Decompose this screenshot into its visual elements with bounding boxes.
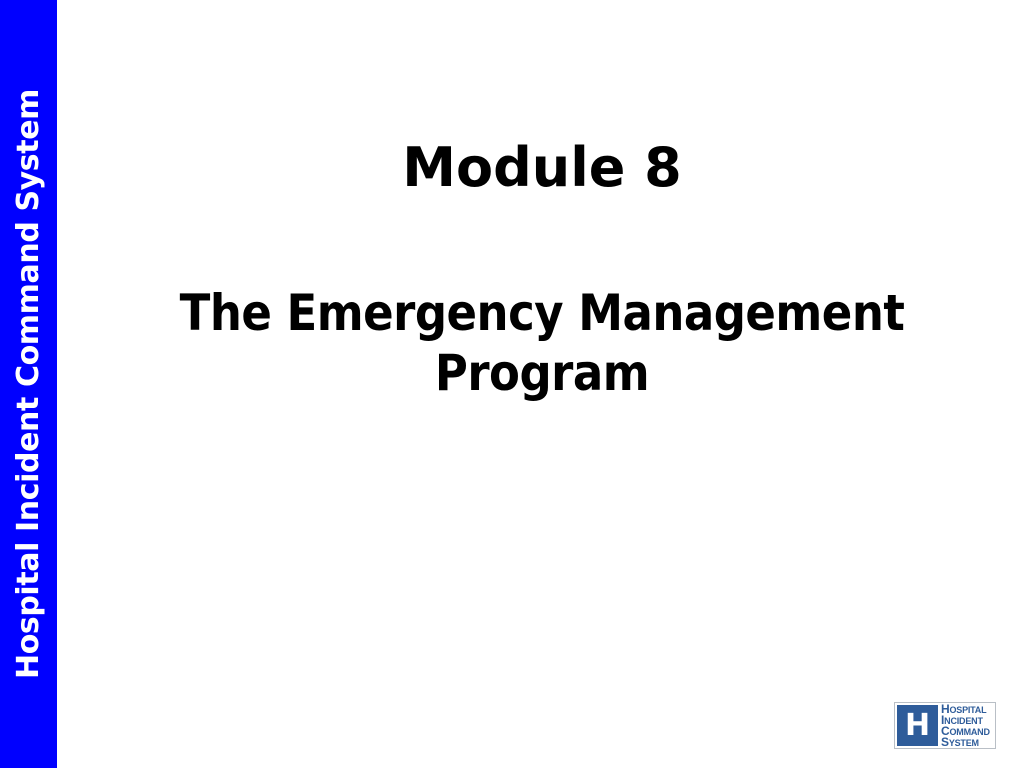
hics-logo-line-system-cap: S <box>941 735 949 749</box>
subtitle-block: The Emergency Management Program <box>117 283 967 403</box>
hics-logo: H HOSPITAL INCIDENT COMMAND SYSTEM <box>894 702 996 749</box>
hospital-h-icon-letter: H <box>897 711 938 741</box>
hics-logo-line-hospital-rest: OSPITAL <box>949 705 986 715</box>
hics-logo-line-hospital: HOSPITAL <box>941 704 993 715</box>
hics-logo-line-incident-rest: NCIDENT <box>944 716 983 726</box>
slide-title: Module 8 <box>117 140 967 197</box>
hics-logo-wordmark: HOSPITAL INCIDENT COMMAND SYSTEM <box>938 705 993 746</box>
slide-canvas: Hospital Incident Command System Module … <box>0 0 1024 768</box>
vertical-banner: Hospital Incident Command System <box>0 0 57 768</box>
slide-subtitle: The Emergency Management Program <box>117 283 967 403</box>
hospital-h-icon: H <box>897 705 938 746</box>
vertical-banner-label: Hospital Incident Command System <box>14 89 44 679</box>
hics-logo-line-system-rest: YSTEM <box>949 738 979 748</box>
title-block: Module 8 <box>117 140 967 197</box>
hics-logo-line-command-rest: OMMAND <box>949 727 989 737</box>
slide-content: Module 8 The Emergency Management Progra… <box>57 0 1024 768</box>
hics-logo-line-system: SYSTEM <box>941 737 993 748</box>
